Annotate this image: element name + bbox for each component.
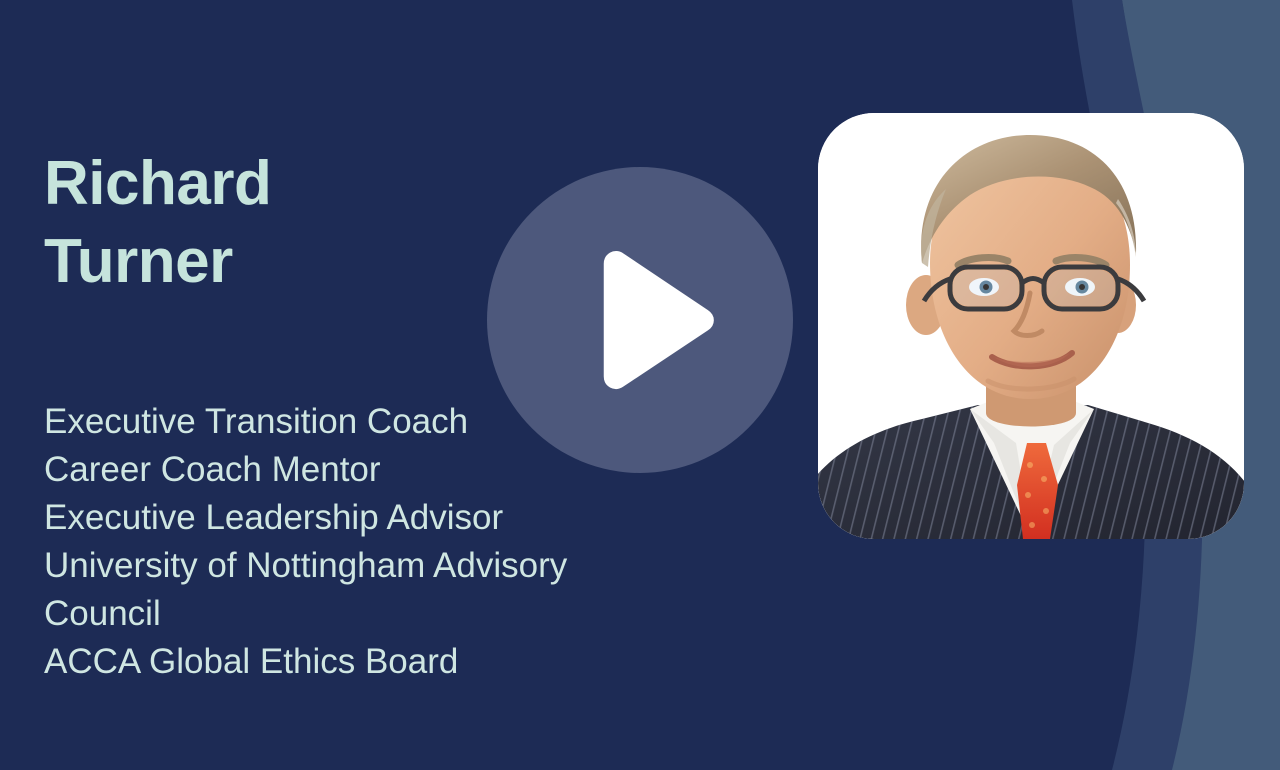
play-button[interactable] [487, 167, 793, 473]
portrait-card [818, 113, 1244, 539]
play-triangle-icon [573, 245, 723, 395]
role-line: ACCA Global Ethics Board [44, 638, 664, 686]
role-line: Executive Leadership Advisor [44, 494, 664, 542]
portrait-photo [818, 113, 1244, 539]
role-line: University of Nottingham Advisory Counci… [44, 542, 664, 638]
speaker-name: Richard Turner [44, 145, 464, 301]
video-slide: Richard Turner Executive Transition Coac… [0, 0, 1280, 770]
